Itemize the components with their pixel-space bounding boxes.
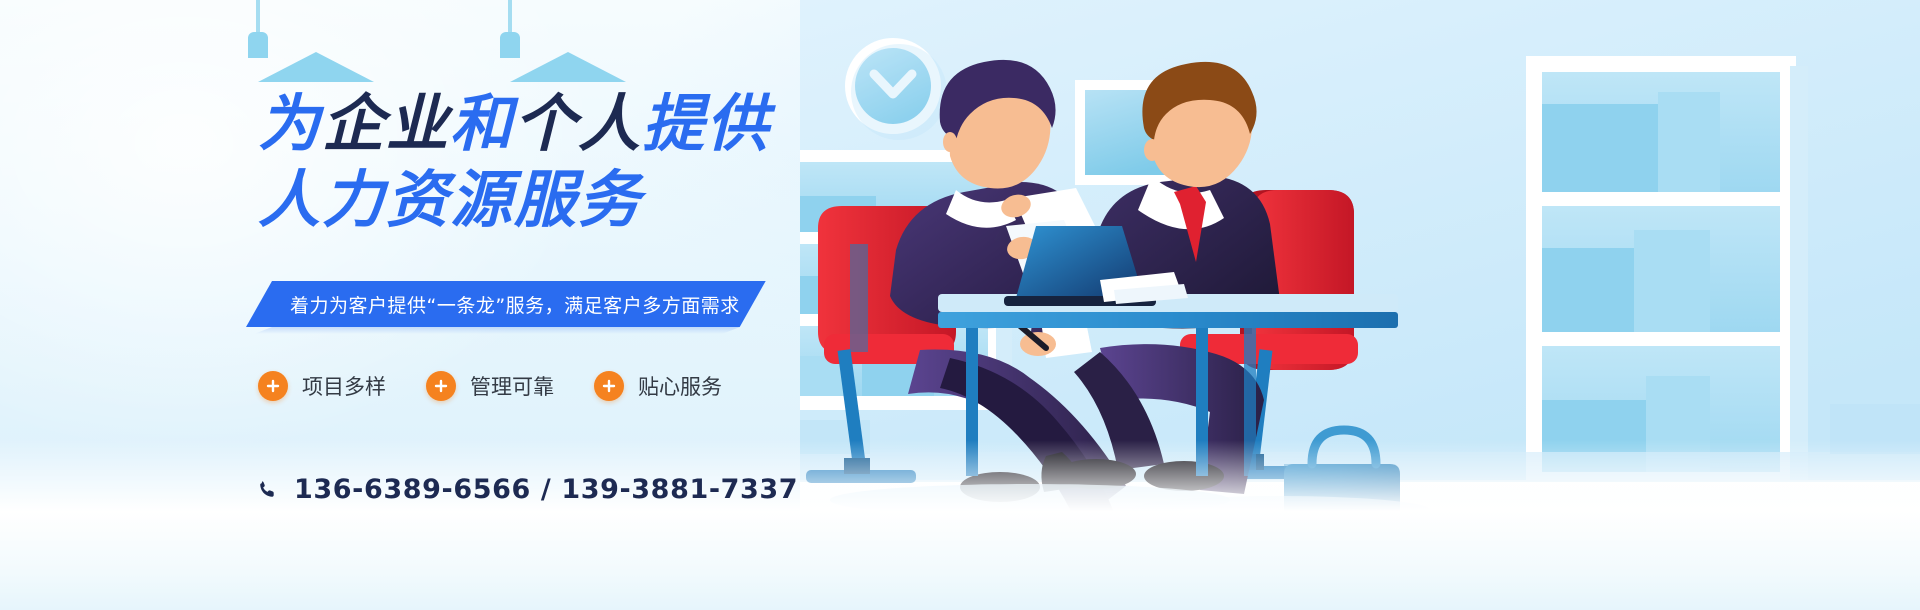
phone-icon [256,479,278,501]
ribbon-shadow [254,327,740,334]
phone-number: 136-6389-6566 / 139-3881-7337 [294,474,798,505]
feature-label: 贴心服务 [638,371,722,401]
feature-item[interactable]: 项目多样 [258,371,386,401]
headline-seg-5: 提供 [642,87,770,160]
bookshelf-right [1526,56,1808,488]
headline-seg-3: 和 [450,87,514,160]
feature-label: 管理可靠 [470,371,554,401]
feature-label: 项目多样 [302,371,386,401]
plus-icon [258,371,288,401]
ribbon-body: 着力为客户提供“一条龙”服务，满足客户多方面需求 [246,281,766,327]
headline-seg-1: 为 [258,87,322,160]
contact-phone[interactable]: 136-6389-6566 / 139-3881-7337 [256,474,798,505]
headline-line-2: 人力资源服务 [258,168,770,232]
page-title: 为企业和个人提供 人力资源服务 [258,92,770,232]
plus-icon [426,371,456,401]
plus-icon [594,371,624,401]
headline-line-1: 为企业和个人提供 [258,92,770,156]
ribbon-label: 着力为客户提供“一条龙”服务，满足客户多方面需求 [290,291,740,318]
subtitle-ribbon: 着力为客户提供“一条龙”服务，满足客户多方面需求 [246,281,766,327]
feature-list: 项目多样 管理可靠 贴心服务 [258,371,722,401]
feature-item[interactable]: 贴心服务 [594,371,722,401]
hero-banner: 为企业和个人提供 人力资源服务 着力为客户提供“一条龙”服务，满足客户多方面需求… [0,0,1920,610]
headline-seg-2: 企业 [322,87,450,160]
feature-item[interactable]: 管理可靠 [426,371,554,401]
text-column: 为企业和个人提供 人力资源服务 着力为客户提供“一条龙”服务，满足客户多方面需求… [0,0,860,610]
headline-seg-4: 个人 [514,87,642,160]
